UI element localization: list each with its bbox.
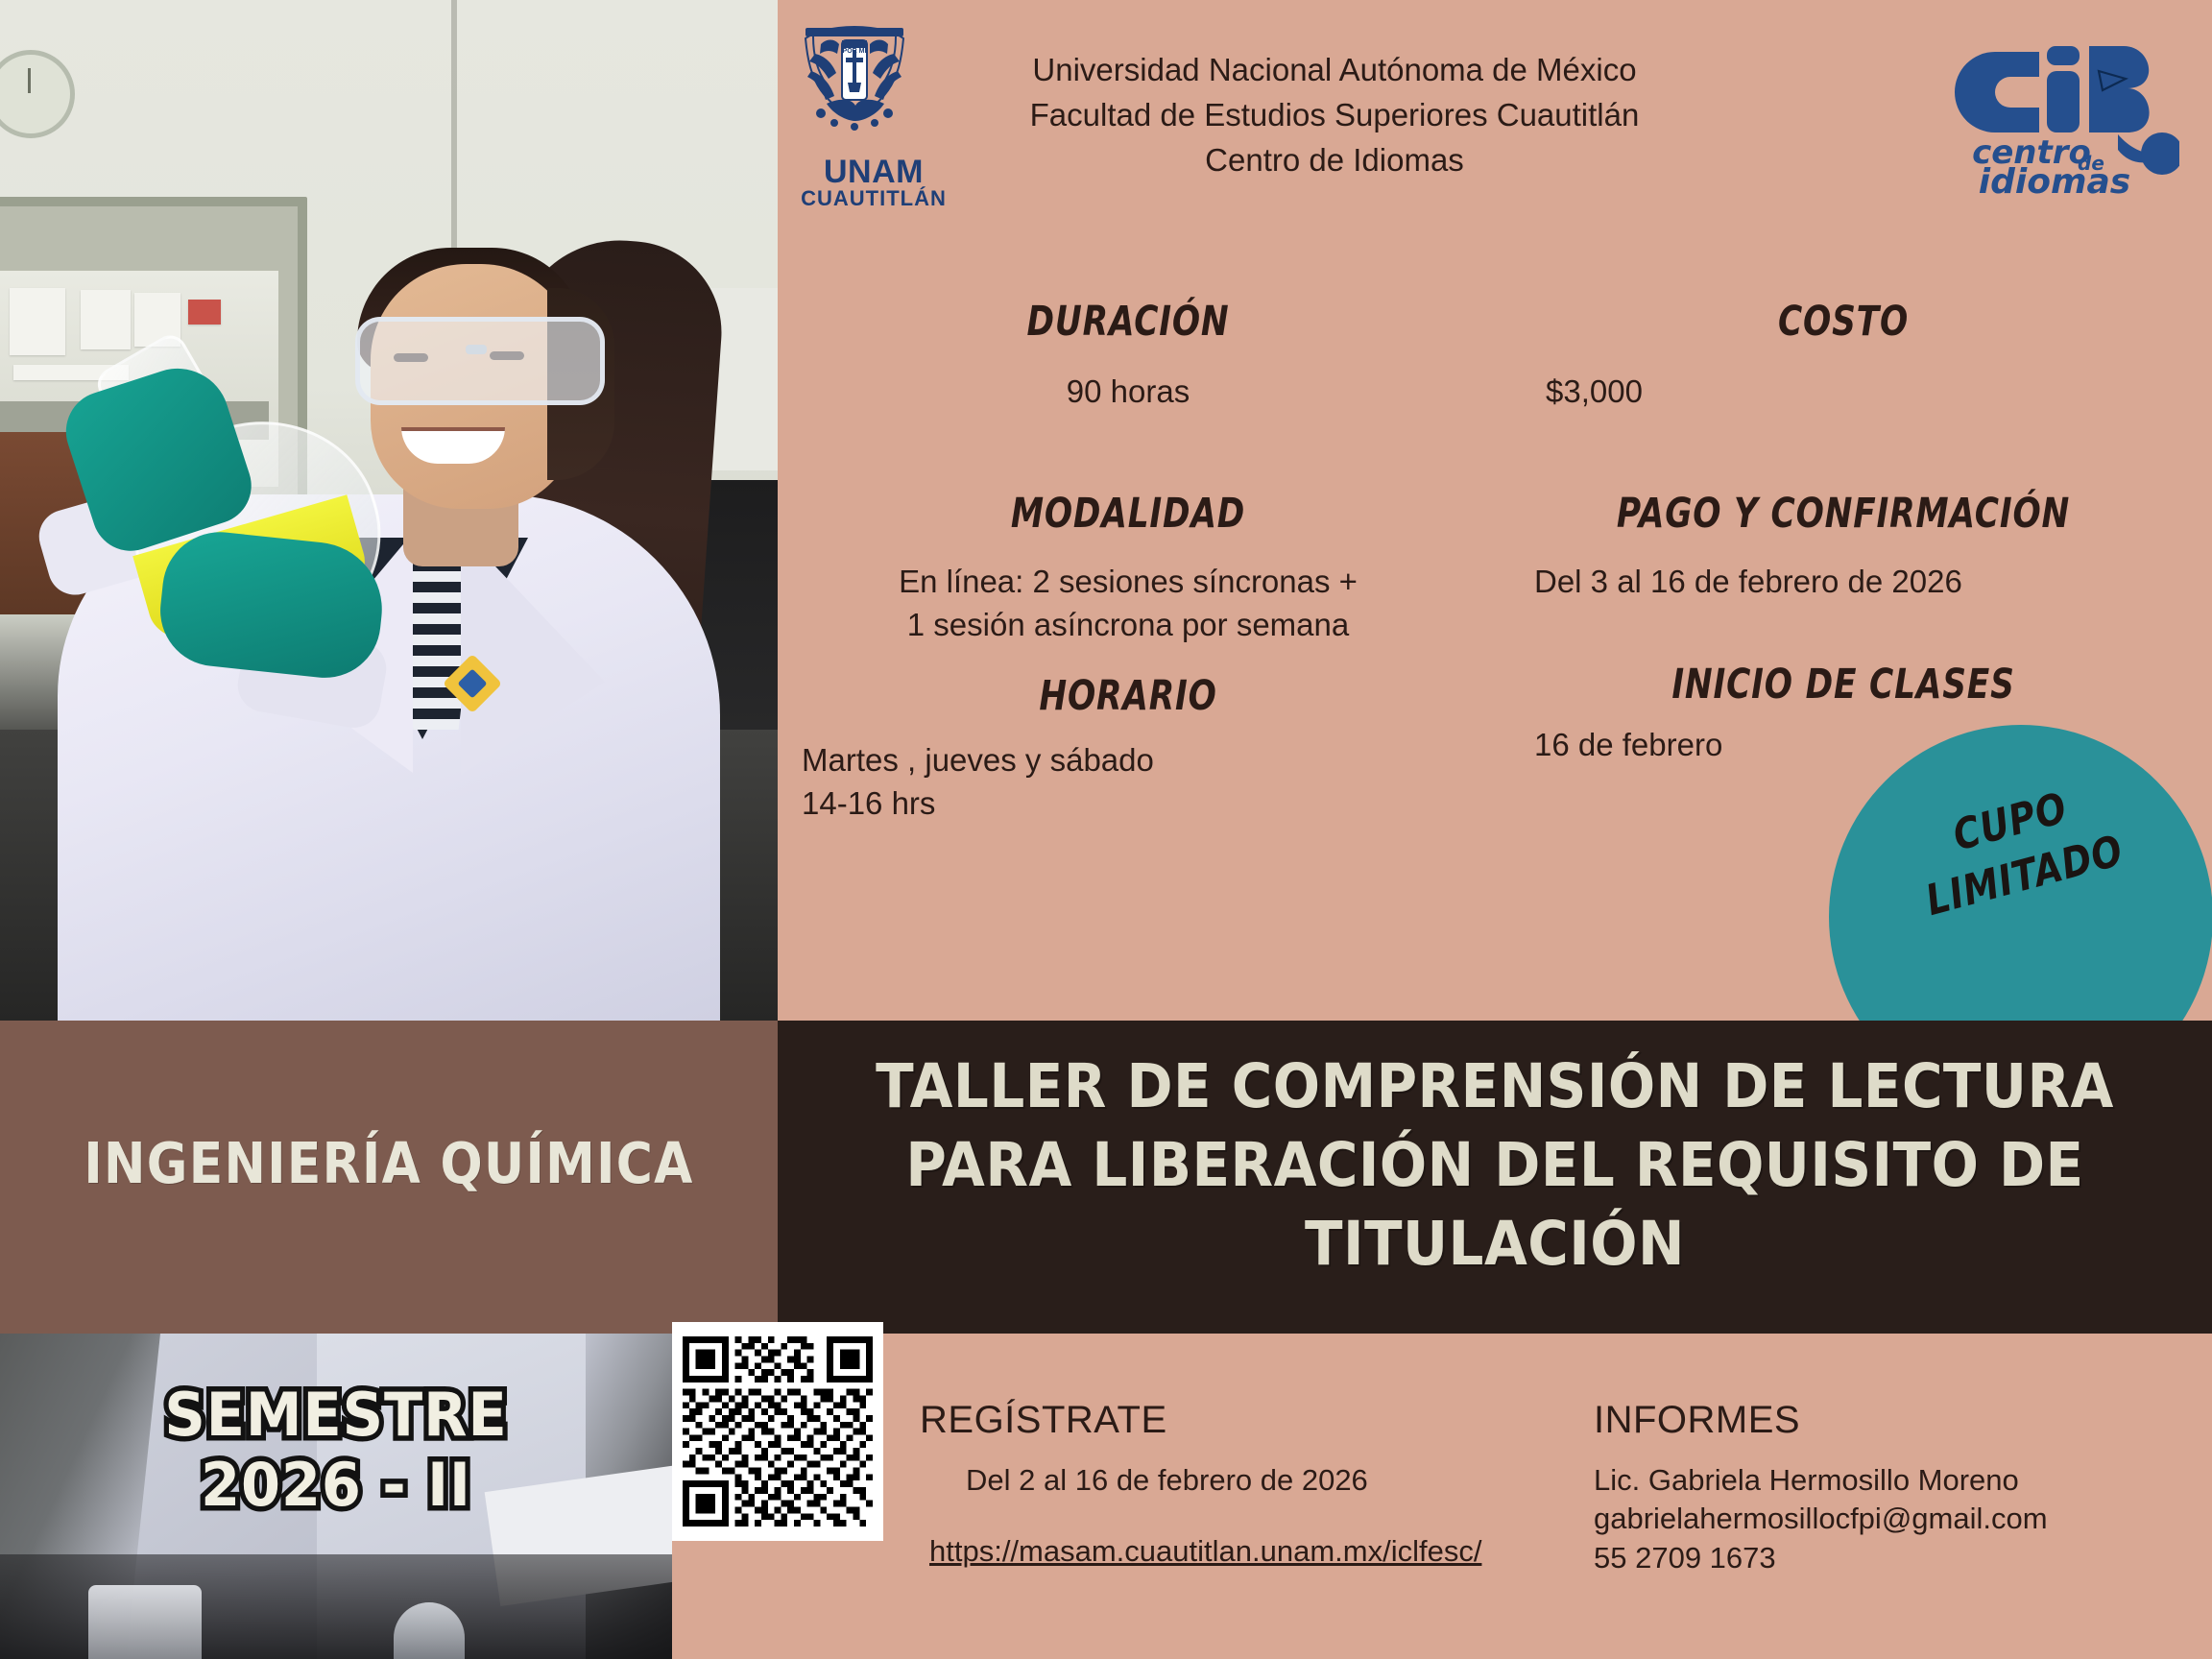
unam-word-line2: CUAUTITLÁN — [792, 188, 955, 209]
informes-heading: INFORMES — [1594, 1399, 2189, 1442]
info-cell-modalidad: MODALIDAD En línea: 2 sesiones síncronas… — [792, 490, 1464, 647]
duracion-label: DURACIÓN — [859, 298, 1397, 346]
duracion-value: 90 horas — [792, 371, 1464, 414]
unam-shield-icon: POR MI — [792, 21, 917, 151]
register-heading: REGÍSTRATE — [920, 1399, 1515, 1442]
horario-line-1: Martes , jueves y sábado — [792, 739, 1464, 782]
info-cell-duracion: DURACIÓN 90 horas — [792, 298, 1464, 414]
unam-word-line1: UNAM — [792, 156, 955, 188]
career-title: INGENIERÍA QUÍMICA — [47, 1130, 732, 1196]
institution-name: Universidad Nacional Autónoma de México … — [970, 48, 1699, 183]
footer: REGÍSTRATE Del 2 al 16 de febrero de 202… — [672, 1334, 2212, 1659]
costo-label: COSTO — [1575, 298, 2112, 346]
svg-text:POR MI: POR MI — [843, 48, 867, 55]
safety-goggles-icon — [355, 317, 605, 405]
course-title-line-1: TALLER DE COMPRENSIÓN DE LECTURA — [871, 1047, 2120, 1126]
info-cell-costo: COSTO $3,000 — [1507, 298, 2179, 414]
register-dates: Del 2 al 16 de febrero de 2026 — [920, 1463, 1515, 1498]
glass-bottle — [88, 1585, 202, 1659]
poster: POR MI UNAM CUAUTITLÁN Universidad Nacio… — [0, 0, 2212, 1659]
qr-code-image — [683, 1333, 873, 1530]
modalidad-line-1: En línea: 2 sesiones síncronas + — [792, 561, 1464, 604]
wall-paper — [10, 288, 65, 355]
photo-student-with-flask — [0, 0, 778, 1021]
horario-label: HORARIO — [859, 672, 1397, 720]
photo-lab-glassware: SEMESTRE 2026 - II — [0, 1334, 672, 1659]
modalidad-label: MODALIDAD — [859, 490, 1397, 538]
cib-idiomas-text: idiomas — [1979, 162, 2130, 198]
wall-sign — [188, 300, 221, 325]
course-title: TALLER DE COMPRENSIÓN DE LECTURA PARA LI… — [871, 1047, 2120, 1284]
info-cell-pago: PAGO Y CONFIRMACIÓN Del 3 al 16 de febre… — [1507, 490, 2179, 604]
unam-wordmark: UNAM CUAUTITLÁN — [792, 156, 955, 209]
pago-value: Del 3 al 16 de febrero de 2026 — [1507, 561, 2179, 604]
semester-line-2: 2026 - II — [81, 1450, 591, 1520]
course-title-line-3: TITULACIÓN — [871, 1205, 2120, 1284]
info-cell-horario: HORARIO Martes , jueves y sábado 14-16 h… — [792, 672, 1464, 826]
semester-label: SEMESTRE 2026 - II — [81, 1380, 591, 1520]
course-title-line-2: PARA LIBERACIÓN DEL REQUISITO DE — [871, 1126, 2120, 1205]
modalidad-line-2: 1 sesión asíncrona por semana — [792, 604, 1464, 647]
institution-line-2: Facultad de Estudios Superiores Cuautitl… — [970, 93, 1699, 138]
qr-code[interactable] — [672, 1322, 883, 1541]
inicio-label: INICIO DE CLASES — [1575, 661, 2112, 709]
informes-email[interactable]: gabrielahermosillocfpi@gmail.com — [1594, 1500, 2189, 1538]
career-band: INGENIERÍA QUÍMICA — [0, 1021, 778, 1334]
info-panel: POR MI UNAM CUAUTITLÁN Universidad Nacio… — [778, 0, 2212, 1021]
cib-logo-icon: centro de idiomas — [1939, 35, 2179, 198]
pago-label: PAGO Y CONFIRMACIÓN — [1575, 490, 2112, 538]
cupo-badge-text: CUPO LIMITADO — [1873, 760, 2162, 938]
register-block: REGÍSTRATE Del 2 al 16 de febrero de 202… — [920, 1399, 1515, 1569]
costo-value: $3,000 — [1507, 371, 2179, 414]
title-band: TALLER DE COMPRENSIÓN DE LECTURA PARA LI… — [778, 1021, 2212, 1334]
informes-block: INFORMES Lic. Gabriela Hermosillo Moreno… — [1594, 1399, 2189, 1577]
register-url-link[interactable]: https://masam.cuautitlan.unam.mx/iclfesc… — [920, 1534, 1481, 1569]
horario-line-2: 14-16 hrs — [792, 782, 1464, 826]
informes-contact-name: Lic. Gabriela Hermosillo Moreno — [1594, 1461, 2189, 1500]
institution-line-1: Universidad Nacional Autónoma de México — [970, 48, 1699, 93]
wall-seam — [451, 0, 457, 288]
wall-paper — [81, 290, 131, 349]
unam-logo: POR MI UNAM CUAUTITLÁN — [792, 21, 955, 199]
informes-phone[interactable]: 55 2709 1673 — [1594, 1539, 2189, 1577]
institution-line-3: Centro de Idiomas — [970, 138, 1699, 183]
semester-line-1: SEMESTRE — [81, 1380, 591, 1450]
